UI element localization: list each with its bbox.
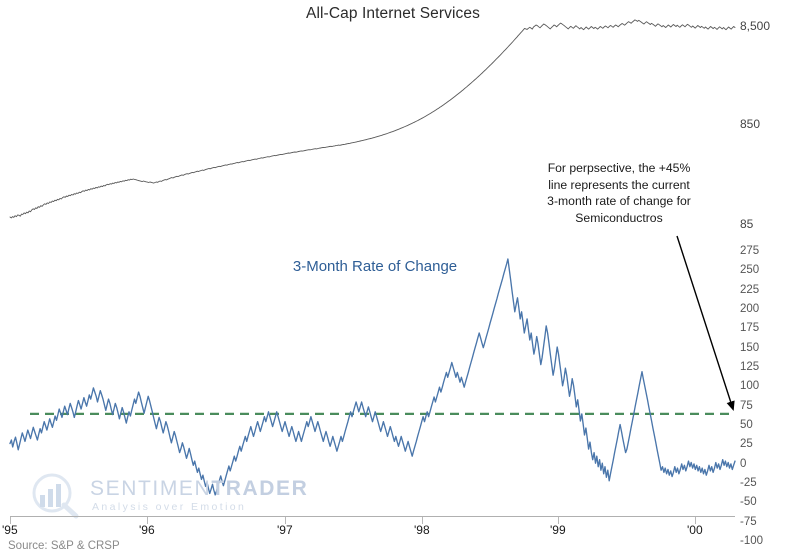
x-axis-line (10, 516, 735, 517)
roc-line-series (10, 259, 735, 495)
source-note: Source: S&P & CRSP (8, 540, 120, 552)
chart-root: All-Cap Internet Services 3-Month Rate o… (0, 0, 786, 557)
x-axis-label-98: '98 (414, 523, 430, 537)
x-axis-label-99: '99 (550, 523, 566, 537)
x-axis-label-95: '95 (2, 523, 18, 537)
plot-canvas (0, 0, 786, 557)
annotation-arrow (677, 236, 733, 409)
x-axis-label-97: '97 (277, 523, 293, 537)
x-axis-label-96: '96 (139, 523, 155, 537)
price-line-series (10, 20, 735, 218)
x-axis-label-00: '00 (687, 523, 703, 537)
